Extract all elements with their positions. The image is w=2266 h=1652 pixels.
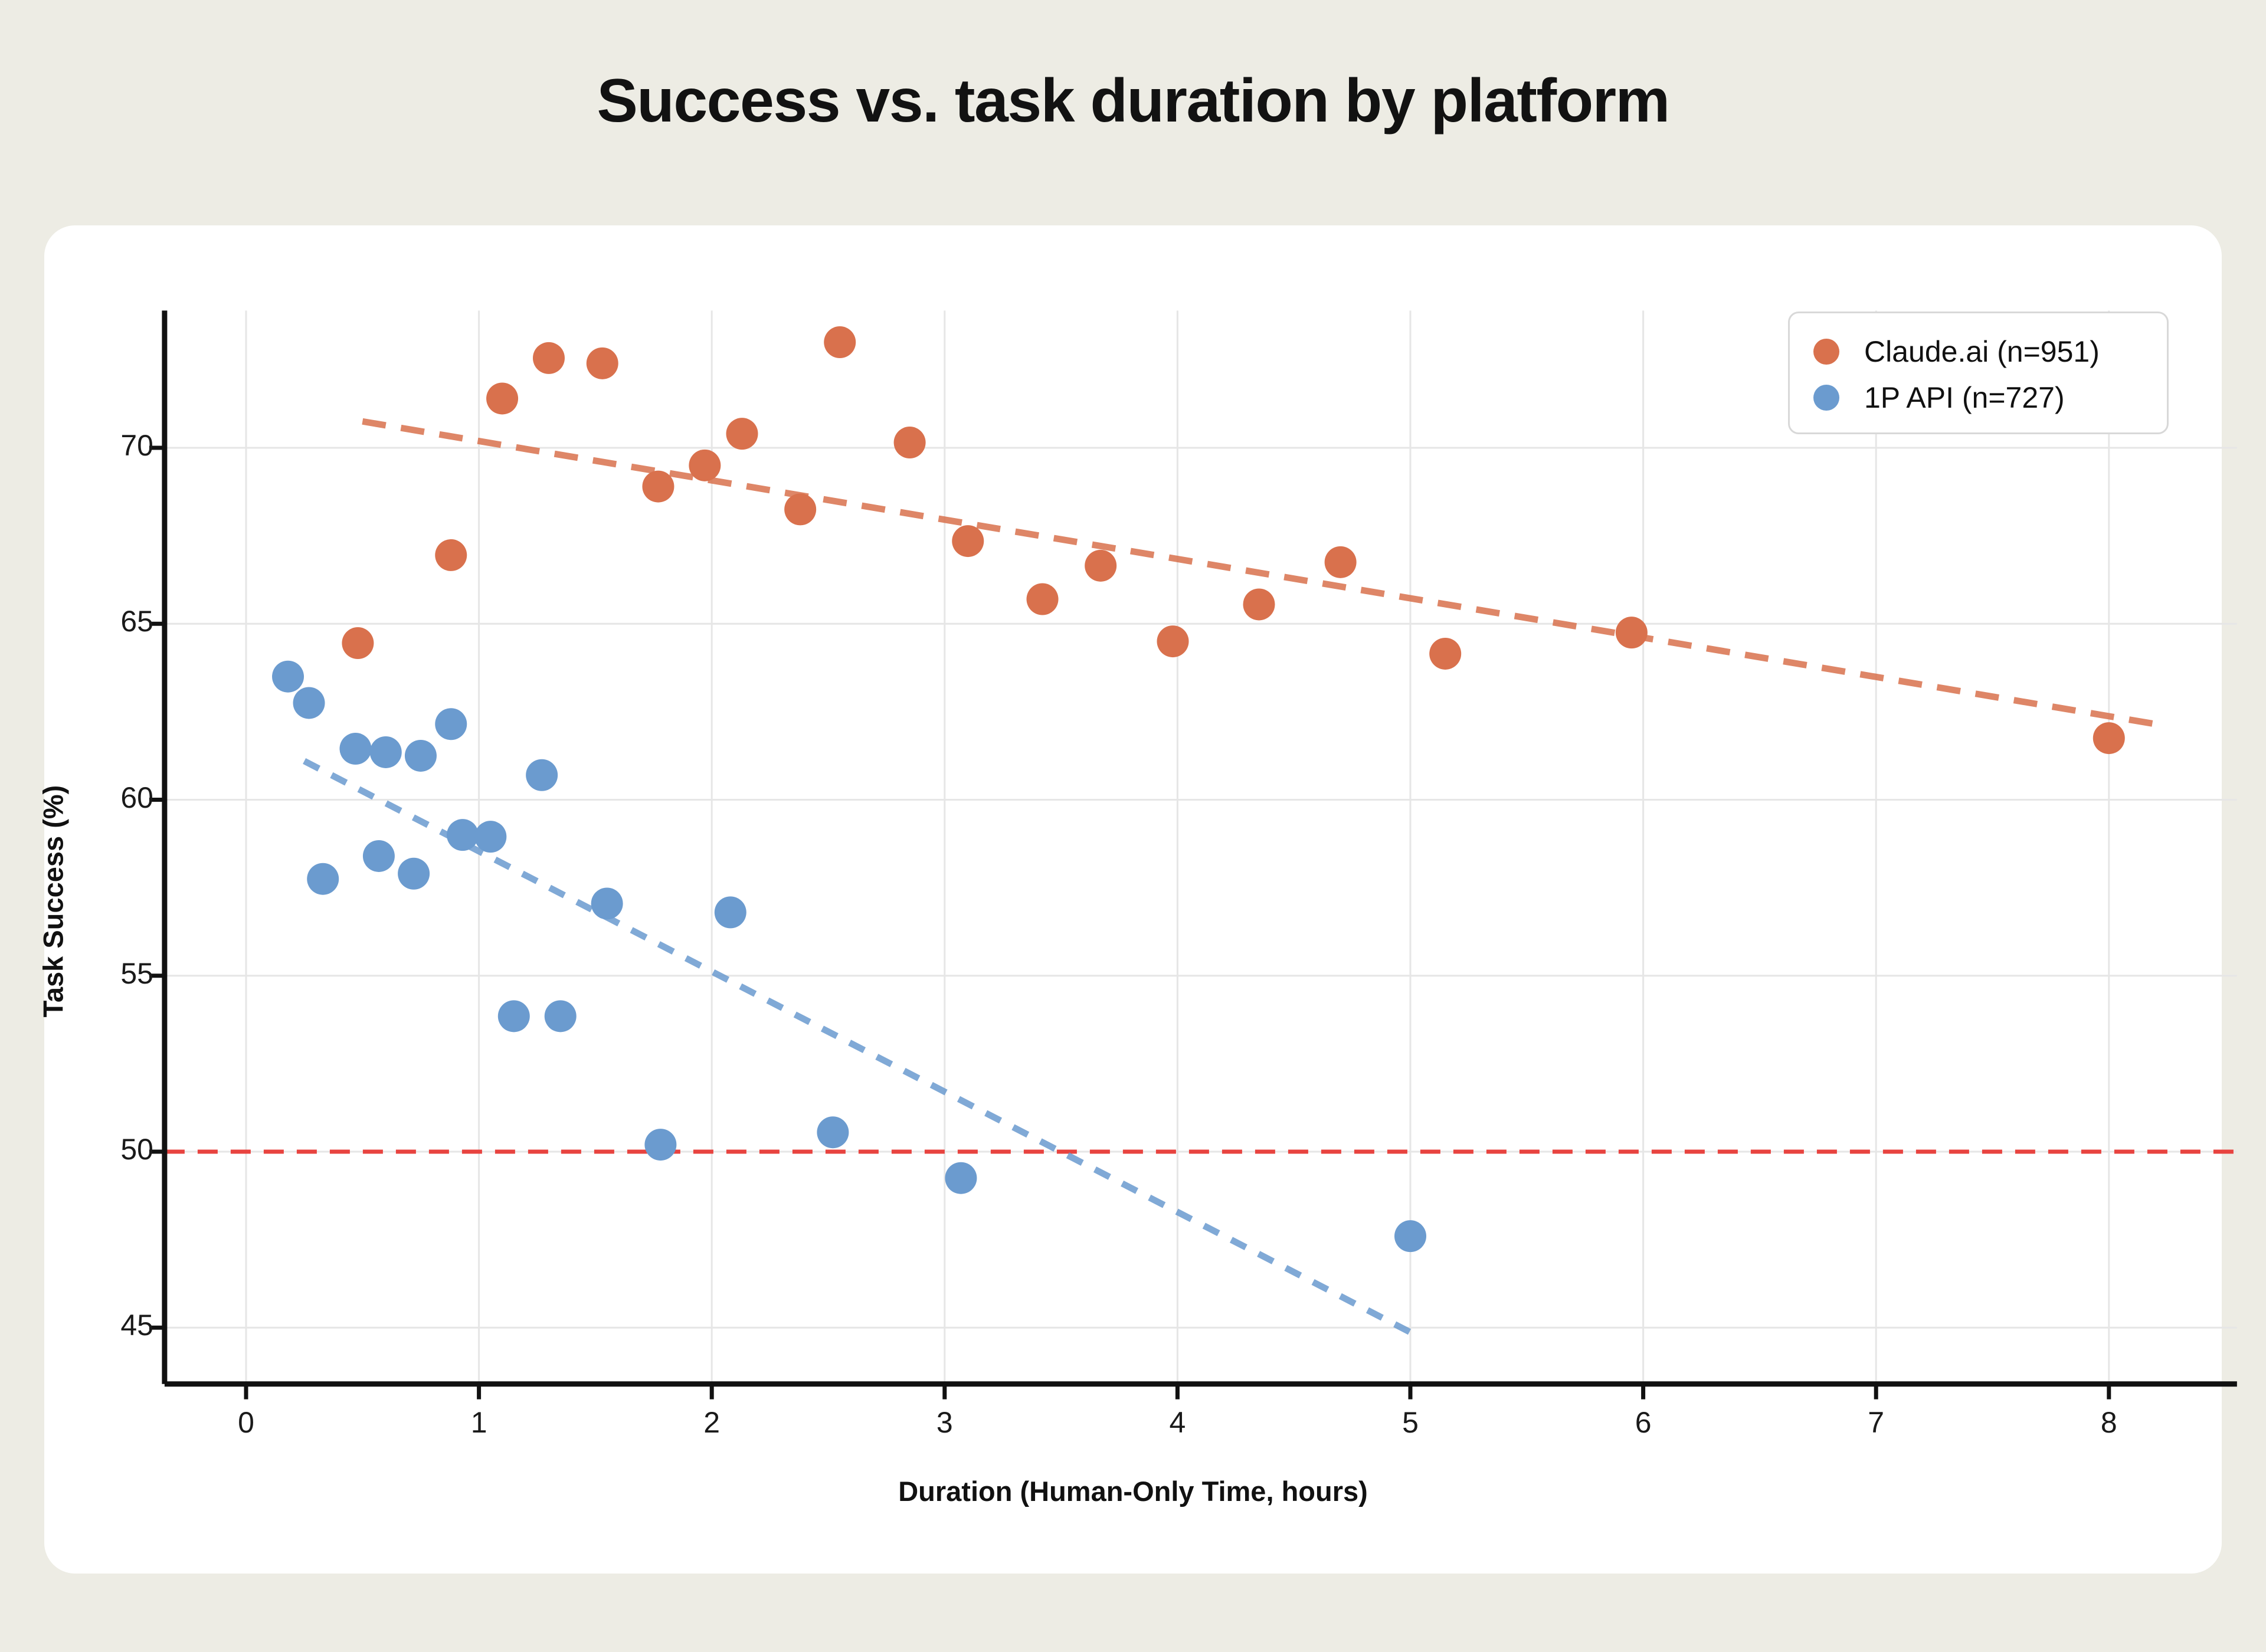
legend-item-label: 1P API (n=727) <box>1864 381 2065 415</box>
chart-page: Success vs. task duration by platform Du… <box>0 0 2266 1652</box>
page-title: Success vs. task duration by platform <box>0 66 2266 136</box>
x-axis-tick-label: 8 <box>2074 1405 2144 1440</box>
y-axis-title: Task Success (%) <box>37 695 70 1108</box>
legend-item[interactable]: Claude.ai (n=951) <box>1813 329 2167 375</box>
chart-legend: Claude.ai (n=951) 1P API (n=727) <box>1788 312 2169 434</box>
legend-item[interactable]: 1P API (n=727) <box>1813 375 2167 421</box>
x-axis-title: Duration (Human-Only Time, hours) <box>0 1475 2266 1507</box>
x-axis-tick-label: 1 <box>444 1405 515 1440</box>
x-axis-tick-label: 2 <box>676 1405 747 1440</box>
y-axis-tick-label: 70 <box>59 428 153 463</box>
x-axis-tick-label: 0 <box>211 1405 281 1440</box>
x-axis-tick-label: 3 <box>909 1405 980 1440</box>
y-axis-tick-label: 50 <box>59 1132 153 1166</box>
legend-marker-circle-icon <box>1813 339 1839 365</box>
y-axis-tick-label: 65 <box>59 604 153 638</box>
y-axis-tick-label: 45 <box>59 1308 153 1342</box>
x-axis-tick-label: 4 <box>1142 1405 1213 1440</box>
x-axis-tick-label: 5 <box>1375 1405 1446 1440</box>
y-axis-tick-label: 60 <box>59 781 153 815</box>
y-axis-tick-label: 55 <box>59 956 153 991</box>
x-axis-tick-label: 7 <box>1841 1405 1911 1440</box>
x-axis-tick-label: 6 <box>1608 1405 1679 1440</box>
legend-item-label: Claude.ai (n=951) <box>1864 335 2100 369</box>
legend-marker-circle-icon <box>1813 385 1839 411</box>
